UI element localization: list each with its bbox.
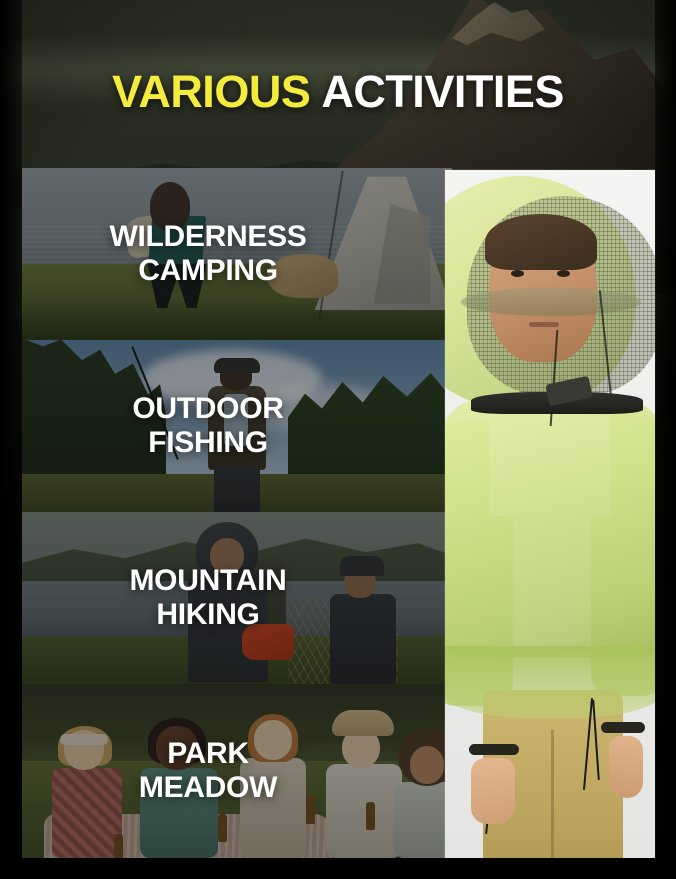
activity-panel-park-meadow[interactable]: PARK MEADOW xyxy=(22,684,452,858)
activity-label-line1: OUTDOOR xyxy=(132,393,283,425)
activity-panel-list: WILDERNESS CAMPING xyxy=(22,168,452,858)
bottom-edge-band xyxy=(0,858,676,879)
model-eye-left xyxy=(511,270,524,277)
model-trousers-seam xyxy=(551,730,554,858)
activity-label-line2: FISHING xyxy=(148,427,268,459)
model-hair xyxy=(485,214,597,270)
activity-panel-mountain-hiking[interactable]: MOUNTAIN HIKING xyxy=(22,512,452,684)
title-highlight-word: VARIOUS xyxy=(112,66,310,117)
right-edge-band xyxy=(655,0,676,879)
product-cuff-left xyxy=(469,744,519,755)
product-jacket-hem xyxy=(445,646,655,718)
product-mesh-jacket xyxy=(445,398,655,658)
page-title: VARIOUSACTIVITIES xyxy=(0,69,676,114)
activity-label-line2: HIKING xyxy=(156,599,259,631)
product-hero-photo xyxy=(445,170,655,858)
activity-label-line1: WILDERNESS xyxy=(109,221,306,253)
title-plain-word: ACTIVITIES xyxy=(321,66,564,117)
activity-label-park-meadow: PARK MEADOW xyxy=(22,684,452,858)
model-eye-right xyxy=(557,270,570,277)
activity-panel-wilderness-camping[interactable]: WILDERNESS CAMPING xyxy=(22,168,452,340)
activity-label-line2: CAMPING xyxy=(138,255,278,287)
model-hand-left xyxy=(471,758,515,824)
left-edge-band xyxy=(0,0,22,879)
model-mouth xyxy=(529,322,559,327)
activity-label-line1: PARK xyxy=(167,738,249,770)
product-hood-brim xyxy=(461,288,641,316)
activity-label-line2: MEADOW xyxy=(139,772,277,804)
activity-label-line1: MOUNTAIN xyxy=(129,565,286,597)
product-infographic-poster: VARIOUSACTIVITIES xyxy=(0,0,676,879)
activity-label-mountain-hiking: MOUNTAIN HIKING xyxy=(22,512,452,684)
model-hand-right xyxy=(609,736,643,798)
product-cuff-right xyxy=(601,722,645,733)
activity-label-outdoor-fishing: OUTDOOR FISHING xyxy=(22,340,452,512)
activity-label-wilderness-camping: WILDERNESS CAMPING xyxy=(22,168,452,340)
activity-panel-outdoor-fishing[interactable]: OUTDOOR FISHING xyxy=(22,340,452,512)
